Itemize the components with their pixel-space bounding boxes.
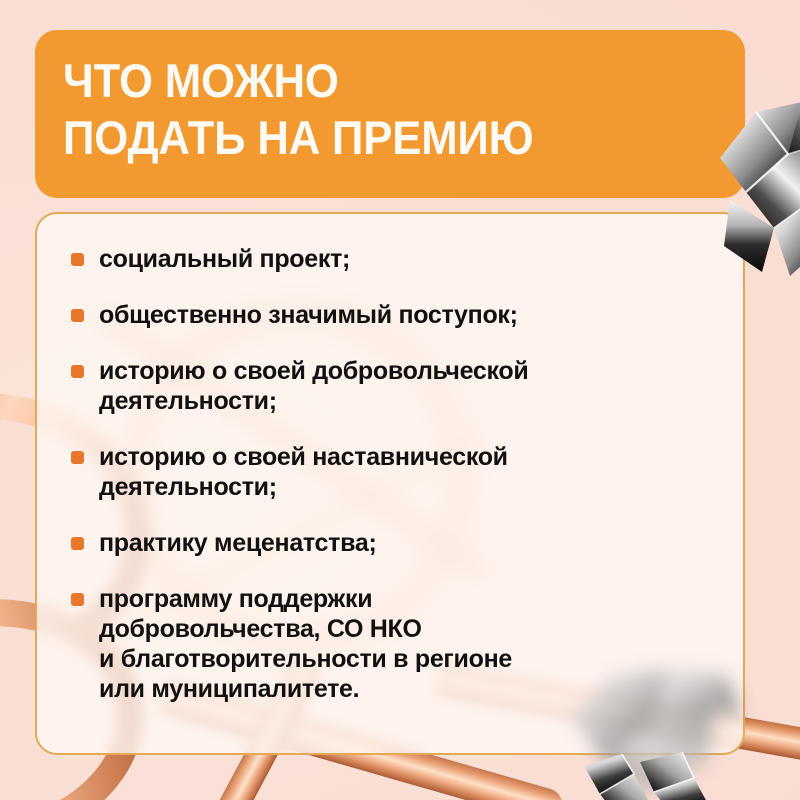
bullet-square-icon bbox=[71, 593, 84, 606]
list-item: общественно значимый поступок; bbox=[71, 300, 709, 330]
page-title: ЧТО МОЖНО ПОДАТЬ НА ПРЕМИЮ bbox=[63, 52, 671, 166]
poster-canvas: ЧТО МОЖНО ПОДАТЬ НА ПРЕМИЮ социальный пр… bbox=[0, 0, 800, 800]
list-item-label: практику меценатства; bbox=[99, 528, 376, 558]
eligible-submissions-list: социальный проект; общественно значимый … bbox=[71, 244, 709, 704]
list-item-label: программу поддержки добровольчества, СО … bbox=[99, 584, 512, 704]
list-item-label: историю о своей наставнической деятельно… bbox=[99, 442, 508, 502]
list-item-label: общественно значимый поступок; bbox=[99, 300, 518, 330]
list-item: историю о своей добровольческой деятельн… bbox=[71, 356, 709, 416]
bullet-square-icon bbox=[71, 537, 84, 550]
bullet-square-icon bbox=[71, 365, 84, 378]
bullet-square-icon bbox=[71, 309, 84, 322]
list-item-label: социальный проект; bbox=[99, 244, 350, 274]
bullet-square-icon bbox=[71, 253, 84, 266]
list-item: социальный проект; bbox=[71, 244, 709, 274]
list-item-label: историю о своей добровольческой деятельн… bbox=[99, 356, 528, 416]
list-item: практику меценатства; bbox=[71, 528, 709, 558]
list-item: историю о своей наставнической деятельно… bbox=[71, 442, 709, 502]
bullet-square-icon bbox=[71, 451, 84, 464]
header-banner: ЧТО МОЖНО ПОДАТЬ НА ПРЕМИЮ bbox=[35, 30, 745, 198]
list-item: программу поддержки добровольчества, СО … bbox=[71, 584, 709, 704]
content-card: социальный проект; общественно значимый … bbox=[35, 212, 745, 755]
